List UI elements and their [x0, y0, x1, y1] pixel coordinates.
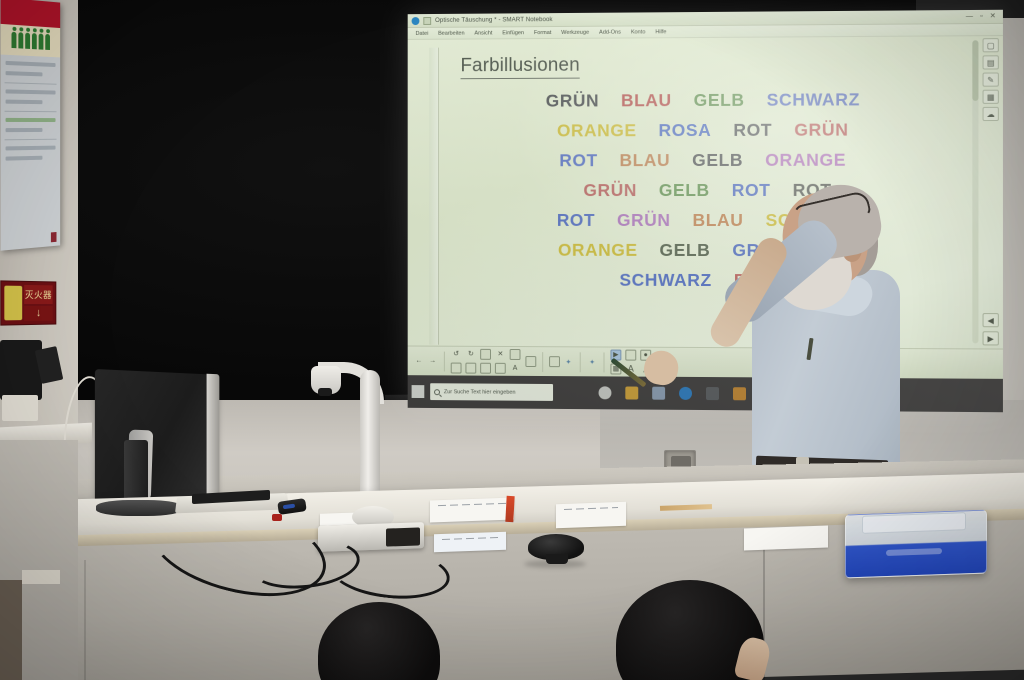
red-ruler: [505, 496, 514, 522]
toolbar-divider: [604, 352, 605, 372]
fire-sign-text: 灭火器: [24, 285, 52, 304]
stroop-word: SCHWARZ: [767, 89, 860, 110]
menu-item-addons[interactable]: Add-Ons: [599, 29, 621, 35]
capture-tool-icon[interactable]: [625, 349, 636, 360]
down-arrow-icon: ↓: [24, 306, 52, 321]
menu-item-einfuegen[interactable]: Einfügen: [502, 30, 524, 36]
paste-icon[interactable]: [465, 362, 476, 373]
search-placeholder: Zur Suche Text hier eingeben: [444, 389, 516, 395]
clone-icon[interactable]: [451, 362, 462, 373]
classroom-scene: 灭火器 ↓ Optische Täuschung * - SMART Noteb…: [0, 0, 1024, 680]
undo-icon[interactable]: ↺: [451, 348, 462, 359]
figure-icon: [39, 33, 44, 49]
save-icon[interactable]: [480, 362, 491, 373]
poster-text-line: [6, 61, 56, 67]
forward-arrow-icon[interactable]: →: [427, 355, 438, 366]
capture-icon[interactable]: [549, 356, 560, 367]
av-switch-panel: [386, 527, 420, 546]
toolbar-divider: [580, 352, 581, 372]
new-page-icon[interactable]: [480, 348, 491, 359]
poster-text-line: [6, 100, 43, 105]
figure-icon: [25, 33, 30, 49]
poster-text-line: [6, 71, 43, 76]
poster-divider: [5, 82, 57, 85]
toolbar-divider: [444, 351, 445, 371]
worksheet: [556, 502, 626, 528]
poster-text-line: [6, 89, 56, 94]
menu-item-konto[interactable]: Konto: [631, 29, 646, 35]
fire-extinguisher-sign: 灭火器 ↓: [0, 280, 56, 325]
paper-writing: [438, 503, 506, 506]
star-icon[interactable]: ✦: [563, 356, 574, 367]
desk-panel-seam: [84, 560, 86, 680]
stroop-word: ROT: [733, 120, 772, 141]
explorer-icon[interactable]: [652, 387, 665, 400]
menu-item-ansicht[interactable]: Ansicht: [474, 30, 492, 36]
stroop-word: ROT: [559, 150, 597, 171]
stroop-word: ORANGE: [557, 120, 637, 141]
paper-writing: [442, 537, 498, 540]
camera-lens-icon: [318, 388, 332, 396]
smart-notebook-icon: [423, 16, 431, 24]
stroop-word: ORANGE: [558, 240, 638, 261]
extinguisher-icon: [4, 286, 22, 321]
stroop-word: GELB: [694, 90, 745, 111]
stroop-word: GELB: [692, 150, 743, 171]
back-arrow-icon[interactable]: ←: [414, 355, 425, 366]
stroop-word: ORANGE: [765, 150, 846, 171]
search-icon: [434, 389, 440, 395]
paper-writing: [564, 507, 618, 510]
poster-text-line: [6, 128, 43, 132]
poster-divider: [5, 139, 57, 141]
paper-sheet: [744, 526, 828, 551]
toolbar-divider: [542, 352, 543, 372]
stroop-word: GRÜN: [583, 180, 636, 201]
stroop-word: BLAU: [621, 90, 672, 111]
figure-icon: [45, 34, 50, 50]
storage-box-lid: [862, 512, 966, 534]
transparency-icon[interactable]: A: [510, 362, 521, 373]
redo-icon[interactable]: ↻: [465, 348, 476, 359]
full-screen-icon[interactable]: [495, 362, 506, 373]
worksheet: [430, 498, 514, 523]
app-indicator-icon: [412, 17, 420, 25]
menu-item-format[interactable]: Format: [534, 30, 551, 36]
stroop-word: GRÜN: [617, 210, 671, 231]
poster-text-line: [6, 156, 43, 161]
stroop-word: ROSA: [659, 120, 712, 141]
microphone-base: [546, 554, 568, 564]
cortana-icon[interactable]: [599, 386, 612, 399]
stroop-row: ORANGE ROSA ROT GRÜN: [408, 119, 1003, 142]
folder-icon[interactable]: [625, 386, 638, 399]
figure-icon: [32, 33, 37, 49]
maximize-icon[interactable]: ▫: [980, 12, 983, 20]
window-title: Optische Täuschung * - SMART Notebook: [435, 16, 553, 24]
shape-pen-icon[interactable]: ✦: [587, 356, 598, 367]
stroop-row: GRÜN BLAU GELB SCHWARZ: [408, 89, 1003, 112]
toolbar-icon-grid[interactable]: ↺ ↻ ✕ A: [451, 348, 523, 374]
stroop-word: GRÜN: [794, 120, 848, 141]
stroop-word: GRÜN: [546, 90, 599, 111]
menu-item-bearbeiten[interactable]: Bearbeiten: [438, 30, 465, 36]
figure-icon: [12, 32, 17, 48]
computer-monitor: [95, 369, 216, 503]
stroop-word: BLAU: [620, 150, 671, 171]
left-cabinet-door: [0, 580, 22, 680]
screen-shade-icon[interactable]: [510, 349, 521, 360]
windows-start-icon[interactable]: [412, 385, 425, 398]
stroop-row: ROT BLAU GELB ORANGE: [408, 149, 1003, 171]
left-cabinet-edge: [22, 570, 60, 584]
slide-heading: Farbillusionen: [461, 55, 580, 79]
german-grammar-poster: [1, 0, 61, 251]
menu-item-hilfe[interactable]: Hilfe: [655, 29, 666, 35]
dual-page-icon[interactable]: [525, 356, 536, 367]
menu-item-datei[interactable]: Datei: [416, 30, 429, 36]
figure-icon: [18, 32, 23, 48]
poster-divider: [5, 111, 57, 112]
stroop-word: ROT: [557, 210, 595, 231]
poster-text-line: [6, 118, 56, 122]
poster-footer-mark: [51, 232, 57, 242]
transparency-sheet: [434, 532, 506, 553]
poster-text-line: [6, 146, 56, 151]
delete-icon[interactable]: ✕: [495, 348, 506, 359]
monitor-bezel: [207, 374, 220, 497]
minimize-icon[interactable]: —: [966, 13, 973, 21]
side-equipment: [0, 340, 42, 400]
close-icon[interactable]: ✕: [990, 12, 996, 20]
menu-item-werkzeuge[interactable]: Werkzeuge: [561, 29, 589, 35]
side-equipment: [2, 395, 38, 421]
poster-figure-band: [1, 24, 61, 58]
taskbar-search-input[interactable]: Zur Suche Text hier eingeben: [430, 383, 553, 401]
